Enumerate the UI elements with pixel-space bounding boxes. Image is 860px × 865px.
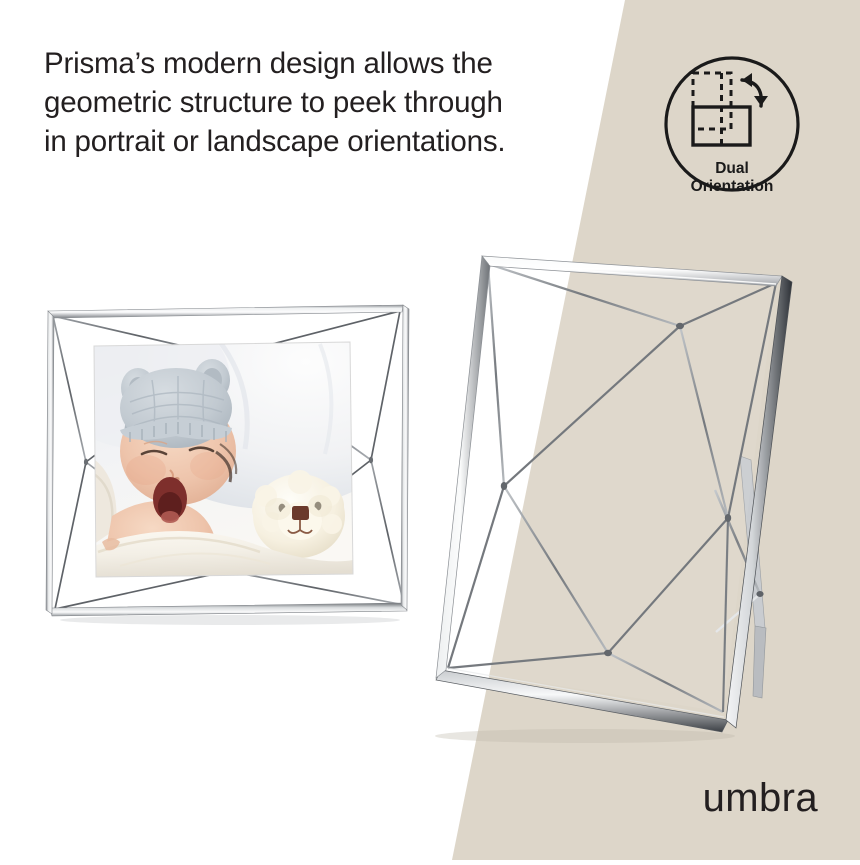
badge-label-line1: Dual [715, 160, 749, 177]
badge-label-line2: Orientation [691, 178, 774, 195]
prisma-frame-portrait [410, 228, 830, 748]
prisma-frame-landscape [20, 284, 430, 634]
product-marketing-image: Prisma’s modern design allows the geomet… [0, 0, 860, 860]
frame-shadow-landscape [60, 615, 400, 625]
frame-glass-portrait [448, 264, 776, 712]
portrait-outline-dashed-icon [693, 73, 731, 129]
arrow-head-down-icon [754, 96, 768, 106]
frame-shadow-portrait [435, 729, 735, 743]
umbra-logo: umbra [703, 778, 818, 818]
headline-text: Prisma’s modern design allows the geomet… [44, 44, 524, 162]
dual-orientation-badge: Dual Orientation [662, 40, 802, 208]
arrow-head-left-icon [742, 73, 752, 87]
